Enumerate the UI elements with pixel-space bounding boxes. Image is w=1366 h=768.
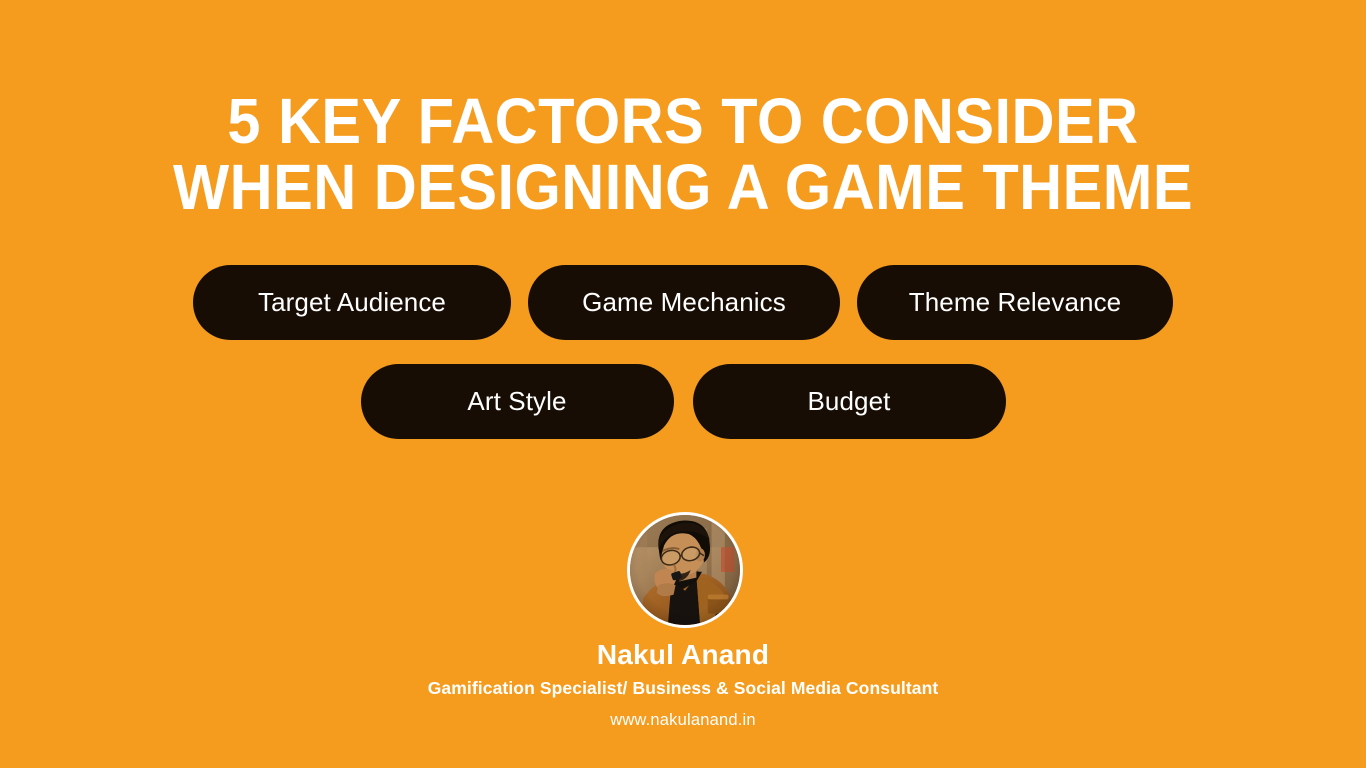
profile-website[interactable]: www.nakulanand.in: [0, 708, 1366, 732]
title-line-1: 5 KEY FACTORS TO CONSIDER: [48, 88, 1318, 154]
factor-row-1: Target Audience Game Mechanics Theme Rel…: [0, 265, 1366, 340]
profile-footer: Nakul Anand Gamification Specialist/ Bus…: [0, 638, 1366, 732]
title-line-2: WHEN DESIGNING A GAME THEME: [48, 154, 1318, 220]
factor-pill-game-mechanics[interactable]: Game Mechanics: [528, 265, 840, 340]
factor-pill-art-style[interactable]: Art Style: [361, 364, 674, 439]
profile-photo-icon: [630, 515, 740, 625]
factor-pill-theme-relevance[interactable]: Theme Relevance: [857, 265, 1173, 340]
page-title: 5 KEY FACTORS TO CONSIDER WHEN DESIGNING…: [0, 88, 1366, 220]
avatar: [627, 512, 743, 628]
factor-row-2: Art Style Budget: [0, 364, 1366, 439]
slide-canvas: 5 KEY FACTORS TO CONSIDER WHEN DESIGNING…: [0, 0, 1366, 768]
avatar-ring: [627, 512, 743, 628]
profile-role: Gamification Specialist/ Business & Soci…: [0, 675, 1366, 701]
profile-name: Nakul Anand: [0, 638, 1366, 672]
factor-pill-budget[interactable]: Budget: [693, 364, 1006, 439]
factor-pill-target-audience[interactable]: Target Audience: [193, 265, 511, 340]
factor-pill-group: Target Audience Game Mechanics Theme Rel…: [0, 265, 1366, 439]
